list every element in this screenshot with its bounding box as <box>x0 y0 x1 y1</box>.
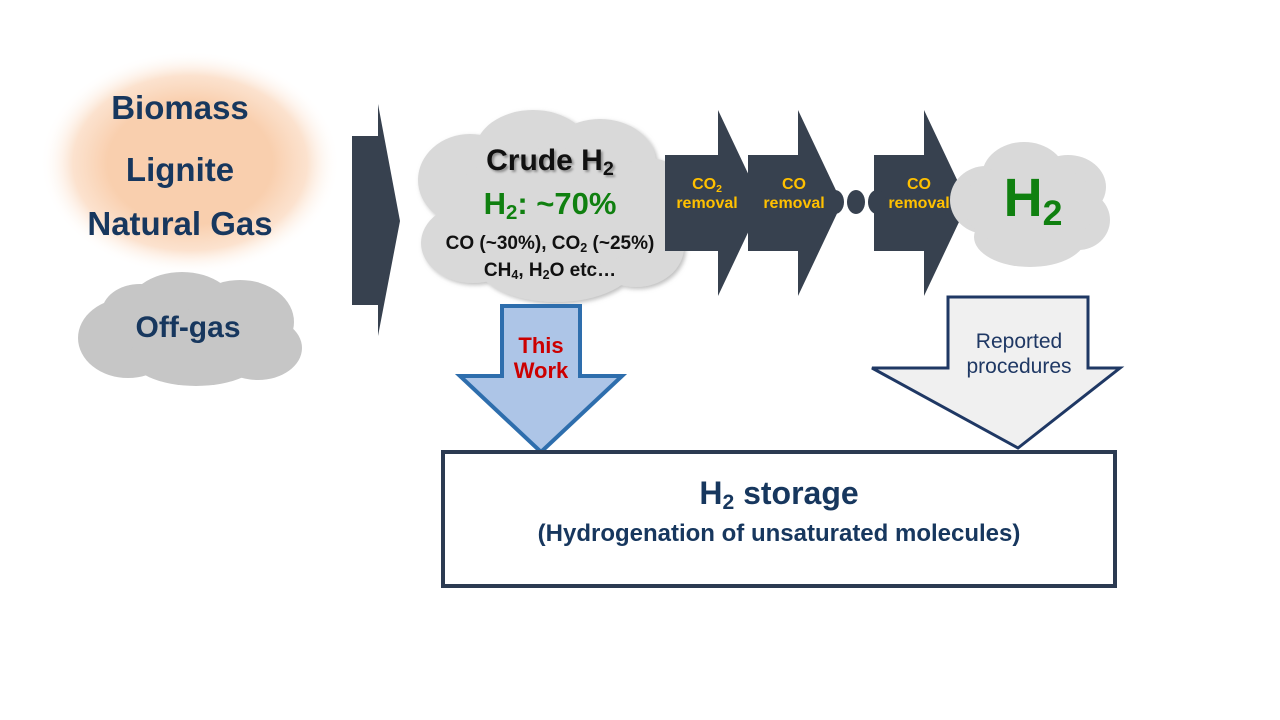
h2-storage-title-base: H <box>699 475 722 511</box>
feedstock-label-natural-gas: Natural Gas <box>0 207 360 242</box>
process-step-2-action: removal <box>763 195 824 212</box>
process-step-1-subscript: 2 <box>716 183 722 195</box>
crude-h2-purity-prefix: H <box>484 186 506 221</box>
crude-h2-purity-subscript: 2 <box>506 201 517 224</box>
impurity-co-text: CO (~30%), CO <box>446 233 581 254</box>
process-step-1-species: CO <box>692 176 716 193</box>
impurity-ch4-subscript: 4 <box>511 268 518 282</box>
feedstock-label-biomass: Biomass <box>0 91 360 126</box>
impurity-h2o-rest: O etc… <box>550 260 617 281</box>
h2-storage-title-rest: storage <box>734 475 858 511</box>
h2-storage-title-subscript: 2 <box>722 491 734 514</box>
impurity-h2o-base: , H <box>518 260 542 281</box>
crude-h2-title-subscript: 2 <box>603 158 614 180</box>
process-step-label-2: CO removal <box>751 176 837 214</box>
impurity-ch4-base: CH <box>484 260 511 281</box>
process-step-label-3: CO removal <box>876 176 962 214</box>
impurity-co2-value: (~25%) <box>587 233 654 254</box>
this-work-line-1: This <box>518 333 563 358</box>
pure-hydrogen-subscript: 2 <box>1043 193 1063 233</box>
h2-storage-subtitle: (Hydrogenation of unsaturated molecules) <box>443 521 1115 546</box>
reported-procedures-line-2: procedures <box>966 355 1071 378</box>
process-step-1-action: removal <box>676 195 737 212</box>
this-work-line-2: Work <box>514 358 569 383</box>
crude-h2-purity-value: : ~70% <box>517 186 616 221</box>
process-step-3-action: removal <box>888 195 949 212</box>
reported-procedures-label: Reported procedures <box>938 330 1100 380</box>
process-step-2-species: CO <box>782 176 806 193</box>
pure-hydrogen-label: H2 <box>968 170 1098 227</box>
offgas-label: Off-gas <box>78 312 298 344</box>
h2-storage-box <box>443 452 1115 586</box>
impurity-h2o-subscript: 2 <box>543 268 550 282</box>
process-step-label-1: CO2 removal <box>661 176 753 214</box>
feedstock-label-lignite: Lignite <box>0 153 360 188</box>
crude-h2-purity: H2: ~70% <box>420 188 680 221</box>
diagram-canvas: Biomass Lignite Natural Gas Off-gas Crud… <box>0 0 1280 720</box>
process-step-3-species: CO <box>907 176 931 193</box>
h2-storage-title: H2 storage <box>443 477 1115 511</box>
impurity-co2-subscript: 2 <box>580 241 587 255</box>
this-work-label: This Work <box>496 333 586 384</box>
reported-procedures-line-1: Reported <box>976 330 1062 353</box>
crude-impurities-line-1: CO (~30%), CO2 (~25%) <box>420 234 680 254</box>
pure-hydrogen-base: H <box>1004 168 1043 228</box>
crude-h2-title-base: Crude H <box>486 144 603 177</box>
crude-h2-title: Crude H2 <box>420 145 680 177</box>
crude-impurities-line-2: CH4, H2O etc… <box>420 261 680 281</box>
